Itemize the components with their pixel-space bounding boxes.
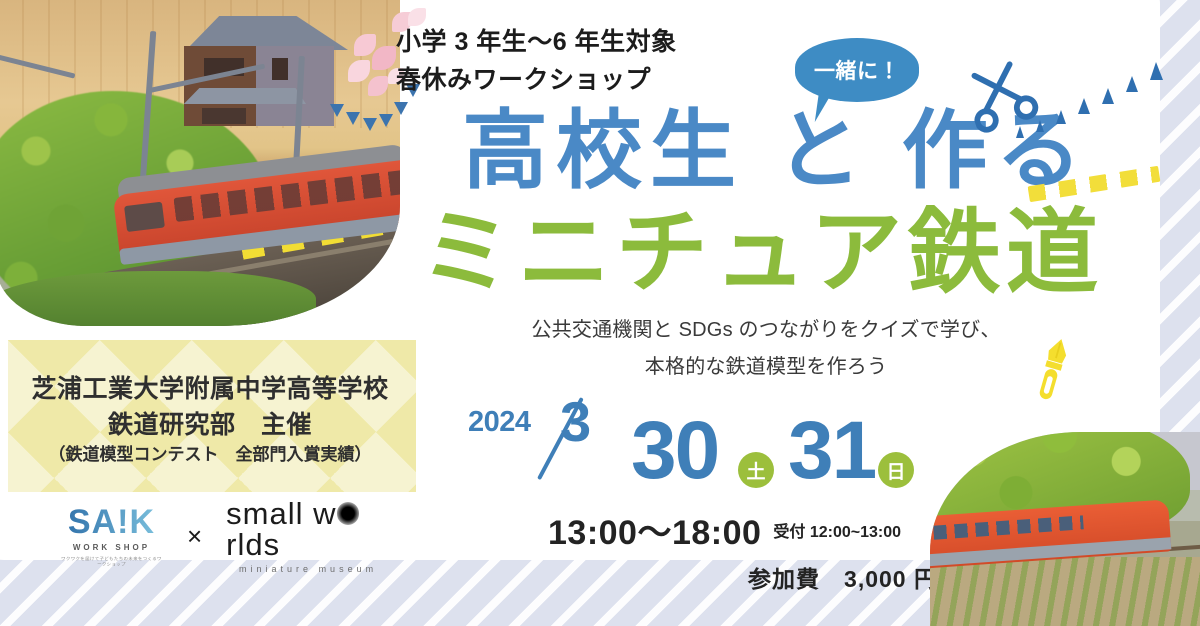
house-window bbox=[272, 58, 288, 80]
lead-line-2: 本格的な鉄道模型を作ろう bbox=[520, 349, 1012, 386]
photo2-field bbox=[930, 557, 1200, 626]
train-cab-window bbox=[124, 202, 165, 232]
date-month: 3 bbox=[560, 394, 591, 450]
logo-separator-icon: × bbox=[187, 523, 202, 549]
diorama-photo-secondary bbox=[930, 432, 1200, 626]
event-reception-time: 受付 12:00~13:00 bbox=[773, 518, 901, 542]
date-day-2-weekday-badge: 日 bbox=[878, 452, 914, 488]
triangle-dot-line-icon bbox=[1010, 52, 1190, 142]
date-day-1: 30 bbox=[631, 410, 718, 492]
photo-foreground-grass bbox=[0, 271, 316, 326]
lead-line-1: 公共交通機関と SDGs のつながりをクイズで学び、 bbox=[520, 312, 1012, 349]
kicker-line-1: 小学 3 年生〜6 年生対象 bbox=[396, 24, 816, 62]
date-day-2: 31 bbox=[788, 410, 875, 492]
small-worlds-o-glyph bbox=[337, 502, 359, 524]
house-roof bbox=[164, 16, 348, 50]
date-year: 2024 bbox=[468, 406, 531, 439]
organizer-school: 芝浦工業大学附属中学高等学校 bbox=[0, 372, 420, 408]
photo-station-house bbox=[176, 16, 336, 126]
small-worlds-tagline: miniature museum bbox=[226, 565, 390, 574]
event-fee: 参加費 3,000 円 bbox=[548, 560, 948, 594]
organizer-club: 鉄道研究部 主催 bbox=[0, 408, 420, 444]
kicker-line-2: 春休みワークショップ bbox=[396, 62, 816, 100]
event-time: 13:00〜18:00 bbox=[548, 505, 761, 554]
house-window bbox=[202, 108, 246, 124]
sak-logo-wordmark: SA!K bbox=[60, 505, 163, 539]
small-worlds-wordmark: small wrlds bbox=[226, 498, 390, 560]
date-day-1-weekday-badge: 土 bbox=[738, 452, 774, 488]
event-date: 2024 3 30 土 31 日 bbox=[468, 392, 948, 500]
kicker-text: 小学 3 年生〜6 年生対象 春休みワークショップ bbox=[396, 24, 816, 99]
title-line-2: ミニチュア鉄道 bbox=[420, 207, 1104, 299]
diorama-photo-main bbox=[0, 0, 400, 326]
speech-bubble: 一緒に！ bbox=[795, 38, 919, 102]
organizer-note: （鉄道模型コンテスト 全部門入賞実績） bbox=[0, 443, 420, 467]
poster-canvas: 小学 3 年生〜6 年生対象 春休みワークショップ 一緒に！ 高校生 と 作る … bbox=[0, 0, 1200, 626]
organizer-text: 芝浦工業大学附属中学高等学校 鉄道研究部 主催 （鉄道模型コンテスト 全部門入賞… bbox=[0, 372, 420, 467]
sak-logo-tagline: ワクワクを届けて子どもたちの未来をつくるワークショップ bbox=[60, 556, 163, 567]
speech-bubble-text: 一緒に！ bbox=[795, 38, 919, 102]
logo-row: SA!K WORK SHOP ワクワクを届けて子どもたちの未来をつくるワークショ… bbox=[60, 500, 390, 572]
small-worlds-logo: small wrlds miniature museum bbox=[226, 498, 390, 574]
lead-paragraph: 公共交通機関と SDGs のつながりをクイズで学び、 本格的な鉄道模型を作ろう bbox=[520, 312, 1012, 386]
event-time-fee: 13:00〜18:00受付 12:00~13:00 参加費 3,000 円 bbox=[548, 505, 948, 594]
sak-logo-subtitle: WORK SHOP bbox=[60, 543, 163, 552]
sak-logo: SA!K WORK SHOP ワクワクを届けて子どもたちの未来をつくるワークショ… bbox=[60, 505, 163, 568]
